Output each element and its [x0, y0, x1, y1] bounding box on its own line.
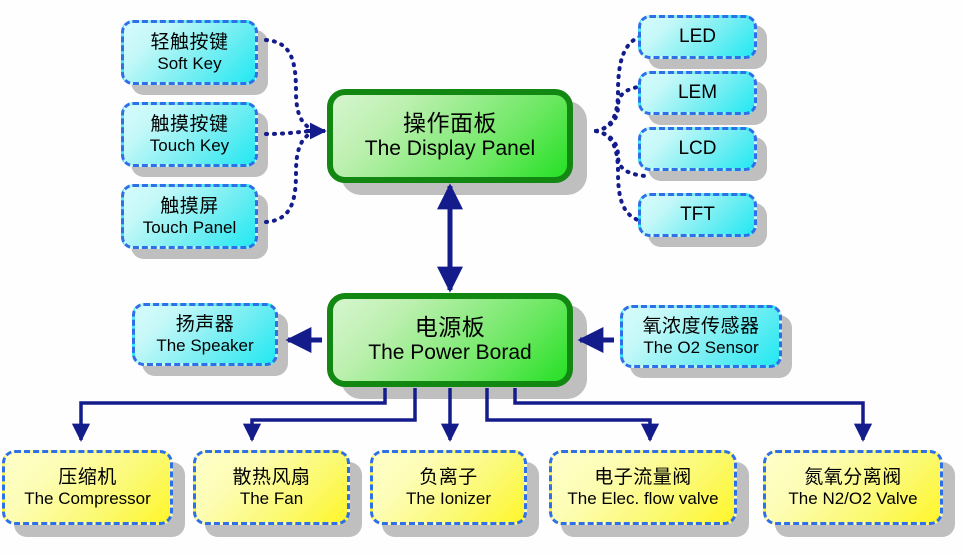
node-label-en: The Ionizer — [406, 489, 491, 508]
node-soft-key[interactable]: 轻触按键 Soft Key — [121, 20, 258, 85]
node-n2-o2-valve[interactable]: 氮氧分离阀 The N2/O2 Valve — [763, 450, 943, 525]
node-led[interactable]: LED — [638, 15, 757, 59]
node-o2-sensor[interactable]: 氧浓度传感器 The O2 Sensor — [620, 305, 782, 368]
node-lcd[interactable]: LCD — [638, 127, 757, 171]
node-label-en: The Compressor — [24, 489, 151, 508]
node-elec-flow-valve[interactable]: 电子流量阀 The Elec. flow valve — [549, 450, 737, 525]
node-label-en: The N2/O2 Valve — [788, 489, 917, 508]
node-compressor[interactable]: 压缩机 The Compressor — [2, 450, 173, 525]
node-speaker[interactable]: 扬声器 The Speaker — [132, 303, 278, 366]
node-label-en: LCD — [678, 138, 716, 159]
node-label-en: The Fan — [240, 489, 303, 508]
node-lem[interactable]: LEM — [638, 71, 757, 115]
node-label-cn: 电子流量阀 — [594, 467, 692, 488]
node-label-cn: 负离子 — [419, 467, 478, 488]
node-label-cn: 压缩机 — [58, 467, 117, 488]
node-label-en: LEM — [678, 82, 717, 103]
node-label-en: The Power Borad — [368, 341, 531, 365]
node-fan[interactable]: 散热风扇 The Fan — [193, 450, 350, 525]
node-ionizer[interactable]: 负离子 The Ionizer — [370, 450, 527, 525]
node-label-cn: 氧浓度传感器 — [642, 316, 759, 337]
node-display-panel[interactable]: 操作面板 The Display Panel — [327, 89, 573, 183]
node-label-cn: 电源板 — [415, 315, 486, 341]
node-label-cn: 触摸按键 — [150, 114, 228, 135]
diagram-canvas: 轻触按键 Soft Key 触摸按键 Touch Key 触摸屏 Touch P… — [0, 0, 963, 555]
node-label-en: The O2 Sensor — [643, 338, 758, 357]
node-touch-panel[interactable]: 触摸屏 Touch Panel — [121, 184, 258, 249]
wire-display-panel-to-displays — [596, 35, 645, 222]
node-label-cn: 氮氧分离阀 — [804, 467, 902, 488]
node-label-cn: 轻触按键 — [150, 32, 228, 53]
node-label-cn: 散热风扇 — [232, 467, 310, 488]
node-label-en: Touch Panel — [143, 218, 237, 237]
node-label-cn: 触摸屏 — [160, 196, 219, 217]
node-power-board[interactable]: 电源板 The Power Borad — [327, 293, 573, 387]
node-label-en: TFT — [680, 204, 715, 225]
node-label-cn: 操作面板 — [403, 111, 497, 137]
node-label-en: The Display Panel — [365, 137, 535, 161]
node-touch-key[interactable]: 触摸按键 Touch Key — [121, 102, 258, 167]
node-label-en: The Elec. flow valve — [567, 489, 718, 508]
node-tft[interactable]: TFT — [638, 193, 757, 237]
node-label-en: Soft Key — [157, 54, 221, 73]
wire-inputs-to-display-panel — [266, 40, 318, 222]
node-label-en: Touch Key — [150, 136, 229, 155]
node-label-en: LED — [679, 26, 716, 47]
node-label-en: The Speaker — [156, 336, 253, 355]
node-label-cn: 扬声器 — [176, 314, 235, 335]
